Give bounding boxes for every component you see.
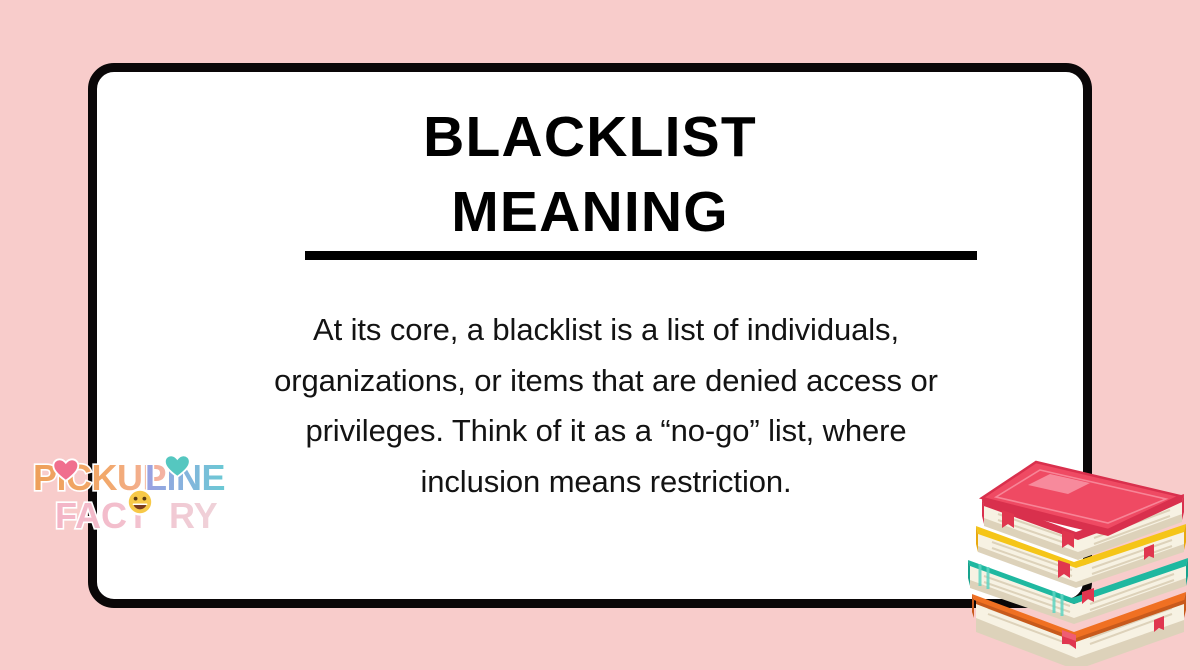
poster-canvas: BLACKLIST MEANING At its core, a blackli… [0,0,1200,670]
page-title: BLACKLIST MEANING [97,100,1083,250]
pickupline-factory-logo[interactable]: PiCKUP LiNE FACT RY [27,440,242,532]
title-line-1: BLACKLIST [97,100,1083,175]
title-line-2: MEANING [97,175,1083,250]
smiley-face-icon [128,490,153,515]
title-divider [305,251,977,260]
stack-of-books-illustration [958,448,1200,666]
definition-text: At its core, a blacklist is a list of in… [247,305,965,507]
